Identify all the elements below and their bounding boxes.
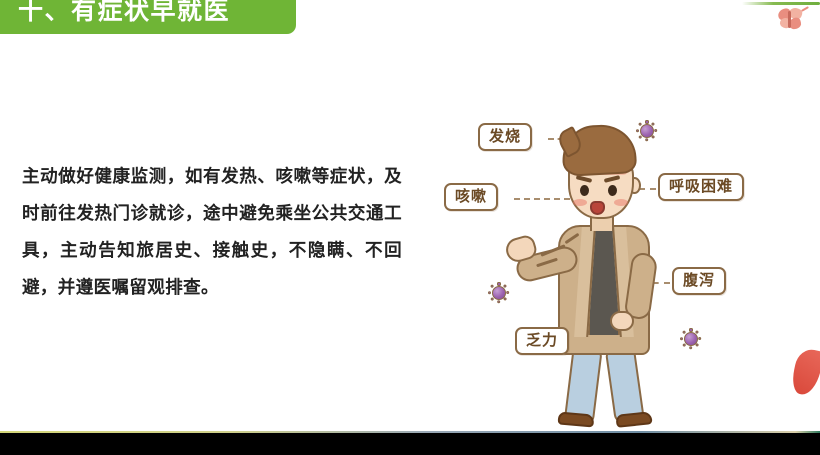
character-blush-right [614,199,628,206]
virus-icon [680,328,702,350]
symptoms-illustration: 发烧 咳嗽 呼吸困难 腹泻 乏力 [430,95,820,425]
bottom-black-band [0,433,820,455]
page-title: 十、有症状早就医 [18,0,288,34]
top-stem-decoration [742,2,820,5]
symptom-label-fever: 发烧 [478,123,532,151]
symptom-label-cough: 咳嗽 [444,183,498,211]
slide-root: 十、有症状早就医 主动做好健康监测，如有发热、咳嗽等症状，及时前往发热门诊就诊，… [0,0,820,455]
character-shoe-right [615,411,652,428]
character-eye-left [580,185,589,196]
character-eye-right [608,185,617,196]
butterfly-icon [776,6,806,32]
virus-icon [488,282,510,304]
character-shoe-left [558,411,595,427]
character-blush-left [573,199,587,206]
virus-icon [636,120,658,142]
body-paragraph: 主动做好健康监测，如有发热、咳嗽等症状，及时前往发热门诊就诊，途中避免乘坐公共交… [22,158,402,306]
character-hand-right [610,311,634,331]
symptom-label-diarrhea: 腹泻 [672,267,726,295]
symptom-label-breath: 呼吸困难 [658,173,744,201]
symptom-label-fatigue: 乏力 [515,327,569,355]
slide-canvas: 十、有症状早就医 主动做好健康监测，如有发热、咳嗽等症状，及时前往发热门诊就诊，… [0,0,820,433]
